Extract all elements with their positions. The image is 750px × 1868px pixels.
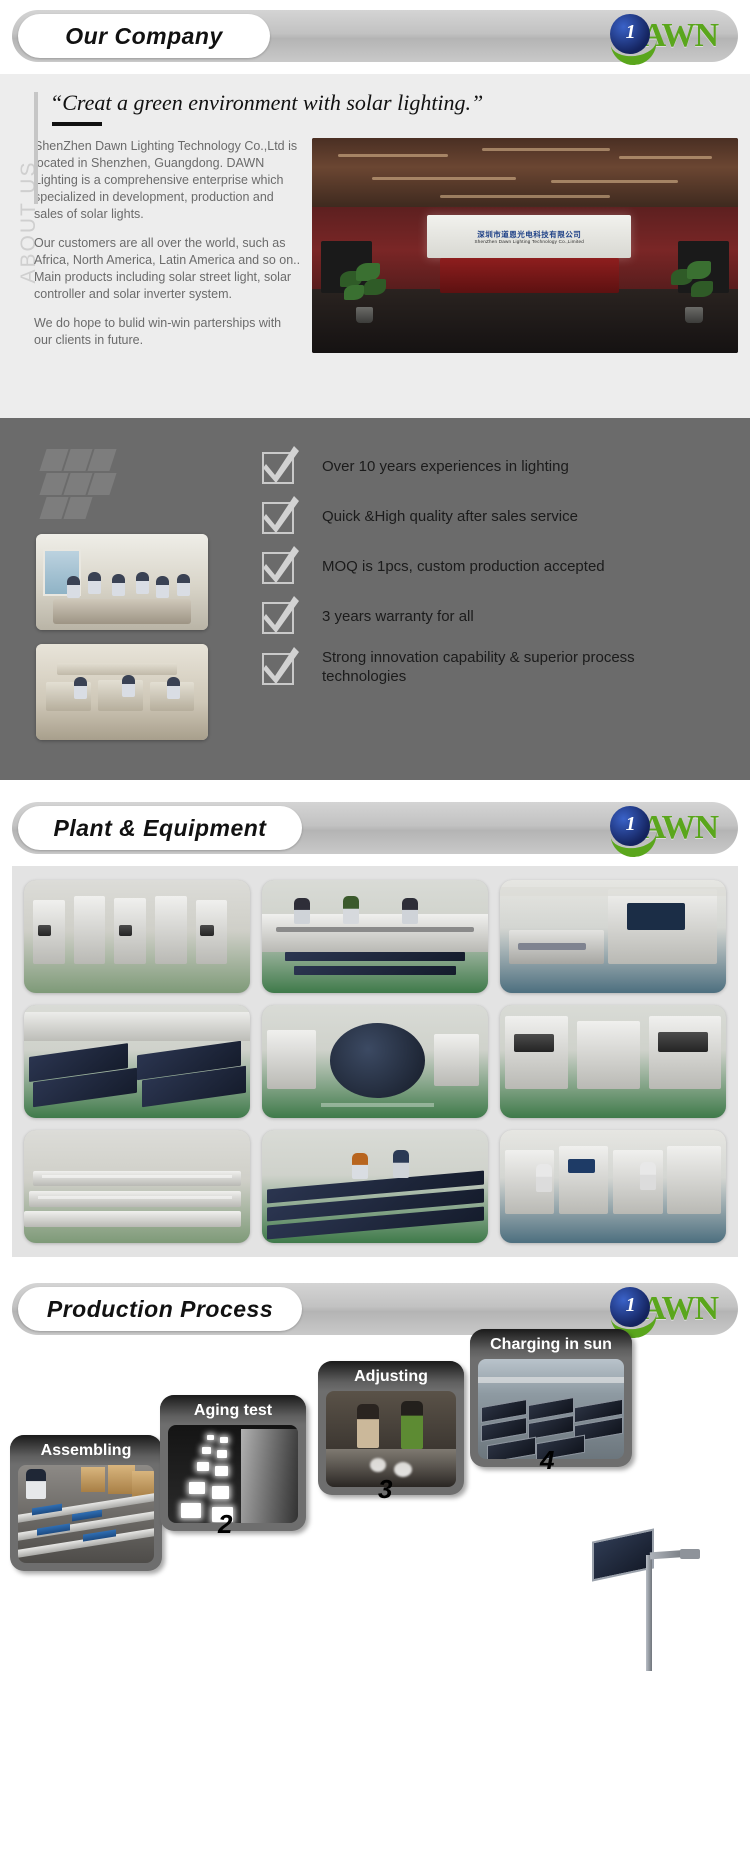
logo-digit: 1	[626, 21, 636, 44]
step-caption: Assembling	[10, 1435, 162, 1465]
page-title-plant-equipment: Plant & Equipment	[18, 806, 302, 850]
open-office-photo	[36, 644, 208, 740]
dawn-logo-icon: 1	[610, 806, 654, 850]
advantage-label: Quick &High quality after sales service	[322, 507, 578, 526]
advantages-list: Over 10 years experiences in lighting Qu…	[256, 438, 750, 754]
dawn-logo-icon: 1	[610, 1287, 654, 1331]
about-us-vertical-label: ABOUT US	[0, 90, 34, 361]
plant-photo-cell	[24, 1130, 250, 1243]
advantage-label: Strong innovation capability & superior …	[322, 648, 652, 686]
showroom-sign: 深圳市道恩光电科技有限公司 ShenZhen Dawn Lighting Tec…	[427, 215, 631, 258]
step-caption: Charging in sun	[470, 1329, 632, 1359]
advantage-item: MOQ is 1pcs, custom production accepted	[260, 548, 728, 584]
production-steps: Assembling Step 1 A	[0, 1349, 750, 1679]
plant-photo-cell	[500, 1005, 726, 1118]
showroom-sign-en: ShenZhen Dawn Lighting Technology Co.,Li…	[474, 239, 584, 244]
step-number: 2	[218, 1509, 232, 1540]
about-us-section: ABOUT US “Creat a green environment with…	[0, 74, 750, 418]
about-paragraph-3: We do hope to bulid win-win parterships …	[34, 315, 302, 349]
advantage-item: Over 10 years experiences in lighting	[260, 448, 728, 484]
plant-photo-cell	[24, 880, 250, 993]
advantage-item: Strong innovation capability & superior …	[260, 648, 728, 686]
decorative-diamond-pattern	[42, 448, 132, 520]
adjusting-photo	[326, 1391, 456, 1487]
assembling-photo	[18, 1465, 154, 1563]
quote-accent-bar	[34, 92, 38, 204]
plant-photo-cell	[262, 1005, 488, 1118]
plant-photo-cell	[262, 880, 488, 993]
about-us-text: ShenZhen Dawn Lighting Technology Co.,Lt…	[34, 138, 302, 361]
checkmark-icon	[260, 448, 300, 484]
company-showroom-photo: 深圳市道恩光电科技有限公司 ShenZhen Dawn Lighting Tec…	[312, 138, 738, 353]
plant-photo-grid	[12, 866, 738, 1257]
step-number: 4	[540, 1445, 554, 1476]
logo-digit: 1	[626, 813, 636, 836]
company-quote: “Creat a green environment with solar li…	[50, 90, 738, 118]
dawn-logo: 1 AWN	[610, 14, 718, 58]
process-step-2: Aging test	[160, 1395, 306, 1531]
checkmark-icon	[260, 548, 300, 584]
about-paragraph-2: Our customers are all over the world, su…	[34, 235, 302, 303]
banner-our-company: Our Company 1 AWN	[12, 10, 738, 62]
checkmark-icon	[260, 498, 300, 534]
about-paragraph-1: ShenZhen Dawn Lighting Technology Co.,Lt…	[34, 138, 302, 223]
charging-in-sun-photo	[478, 1359, 624, 1459]
checkmark-icon	[260, 649, 300, 685]
plant-photo-cell	[262, 1130, 488, 1243]
advantage-label: MOQ is 1pcs, custom production accepted	[322, 557, 605, 576]
advantages-section: Over 10 years experiences in lighting Qu…	[0, 418, 750, 780]
page-title-production-process: Production Process	[18, 1287, 302, 1331]
advantage-item: 3 years warranty for all	[260, 598, 728, 634]
step-number: 3	[378, 1474, 392, 1505]
quote-underline	[52, 122, 102, 126]
advantage-label: 3 years warranty for all	[322, 607, 474, 626]
checkmark-icon	[260, 598, 300, 634]
banner-production-process: Production Process 1 AWN	[12, 1283, 738, 1335]
page-title-our-company: Our Company	[18, 14, 270, 58]
aging-test-photo	[168, 1425, 298, 1523]
advantage-label: Over 10 years experiences in lighting	[322, 457, 569, 476]
plant-photo-cell	[24, 1005, 250, 1118]
advantage-item: Quick &High quality after sales service	[260, 498, 728, 534]
step-caption: Adjusting	[318, 1361, 464, 1391]
meeting-room-photo	[36, 534, 208, 630]
process-step-1: Assembling Step 1	[10, 1435, 162, 1571]
dawn-logo: 1 AWN	[610, 806, 718, 850]
plant-photo-cell	[500, 880, 726, 993]
solar-street-light-product	[584, 1529, 704, 1679]
dawn-logo-icon: 1	[610, 14, 654, 58]
plant-photo-cell	[500, 1130, 726, 1243]
dawn-logo: 1 AWN	[610, 1287, 718, 1331]
logo-digit: 1	[626, 1294, 636, 1317]
step-caption: Aging test	[160, 1395, 306, 1425]
banner-plant-equipment: Plant & Equipment 1 AWN	[12, 802, 738, 854]
page-root: Our Company 1 AWN ABOUT US “Creat a gree…	[0, 0, 750, 1679]
showroom-sign-cn: 深圳市道恩光电科技有限公司	[477, 230, 581, 239]
